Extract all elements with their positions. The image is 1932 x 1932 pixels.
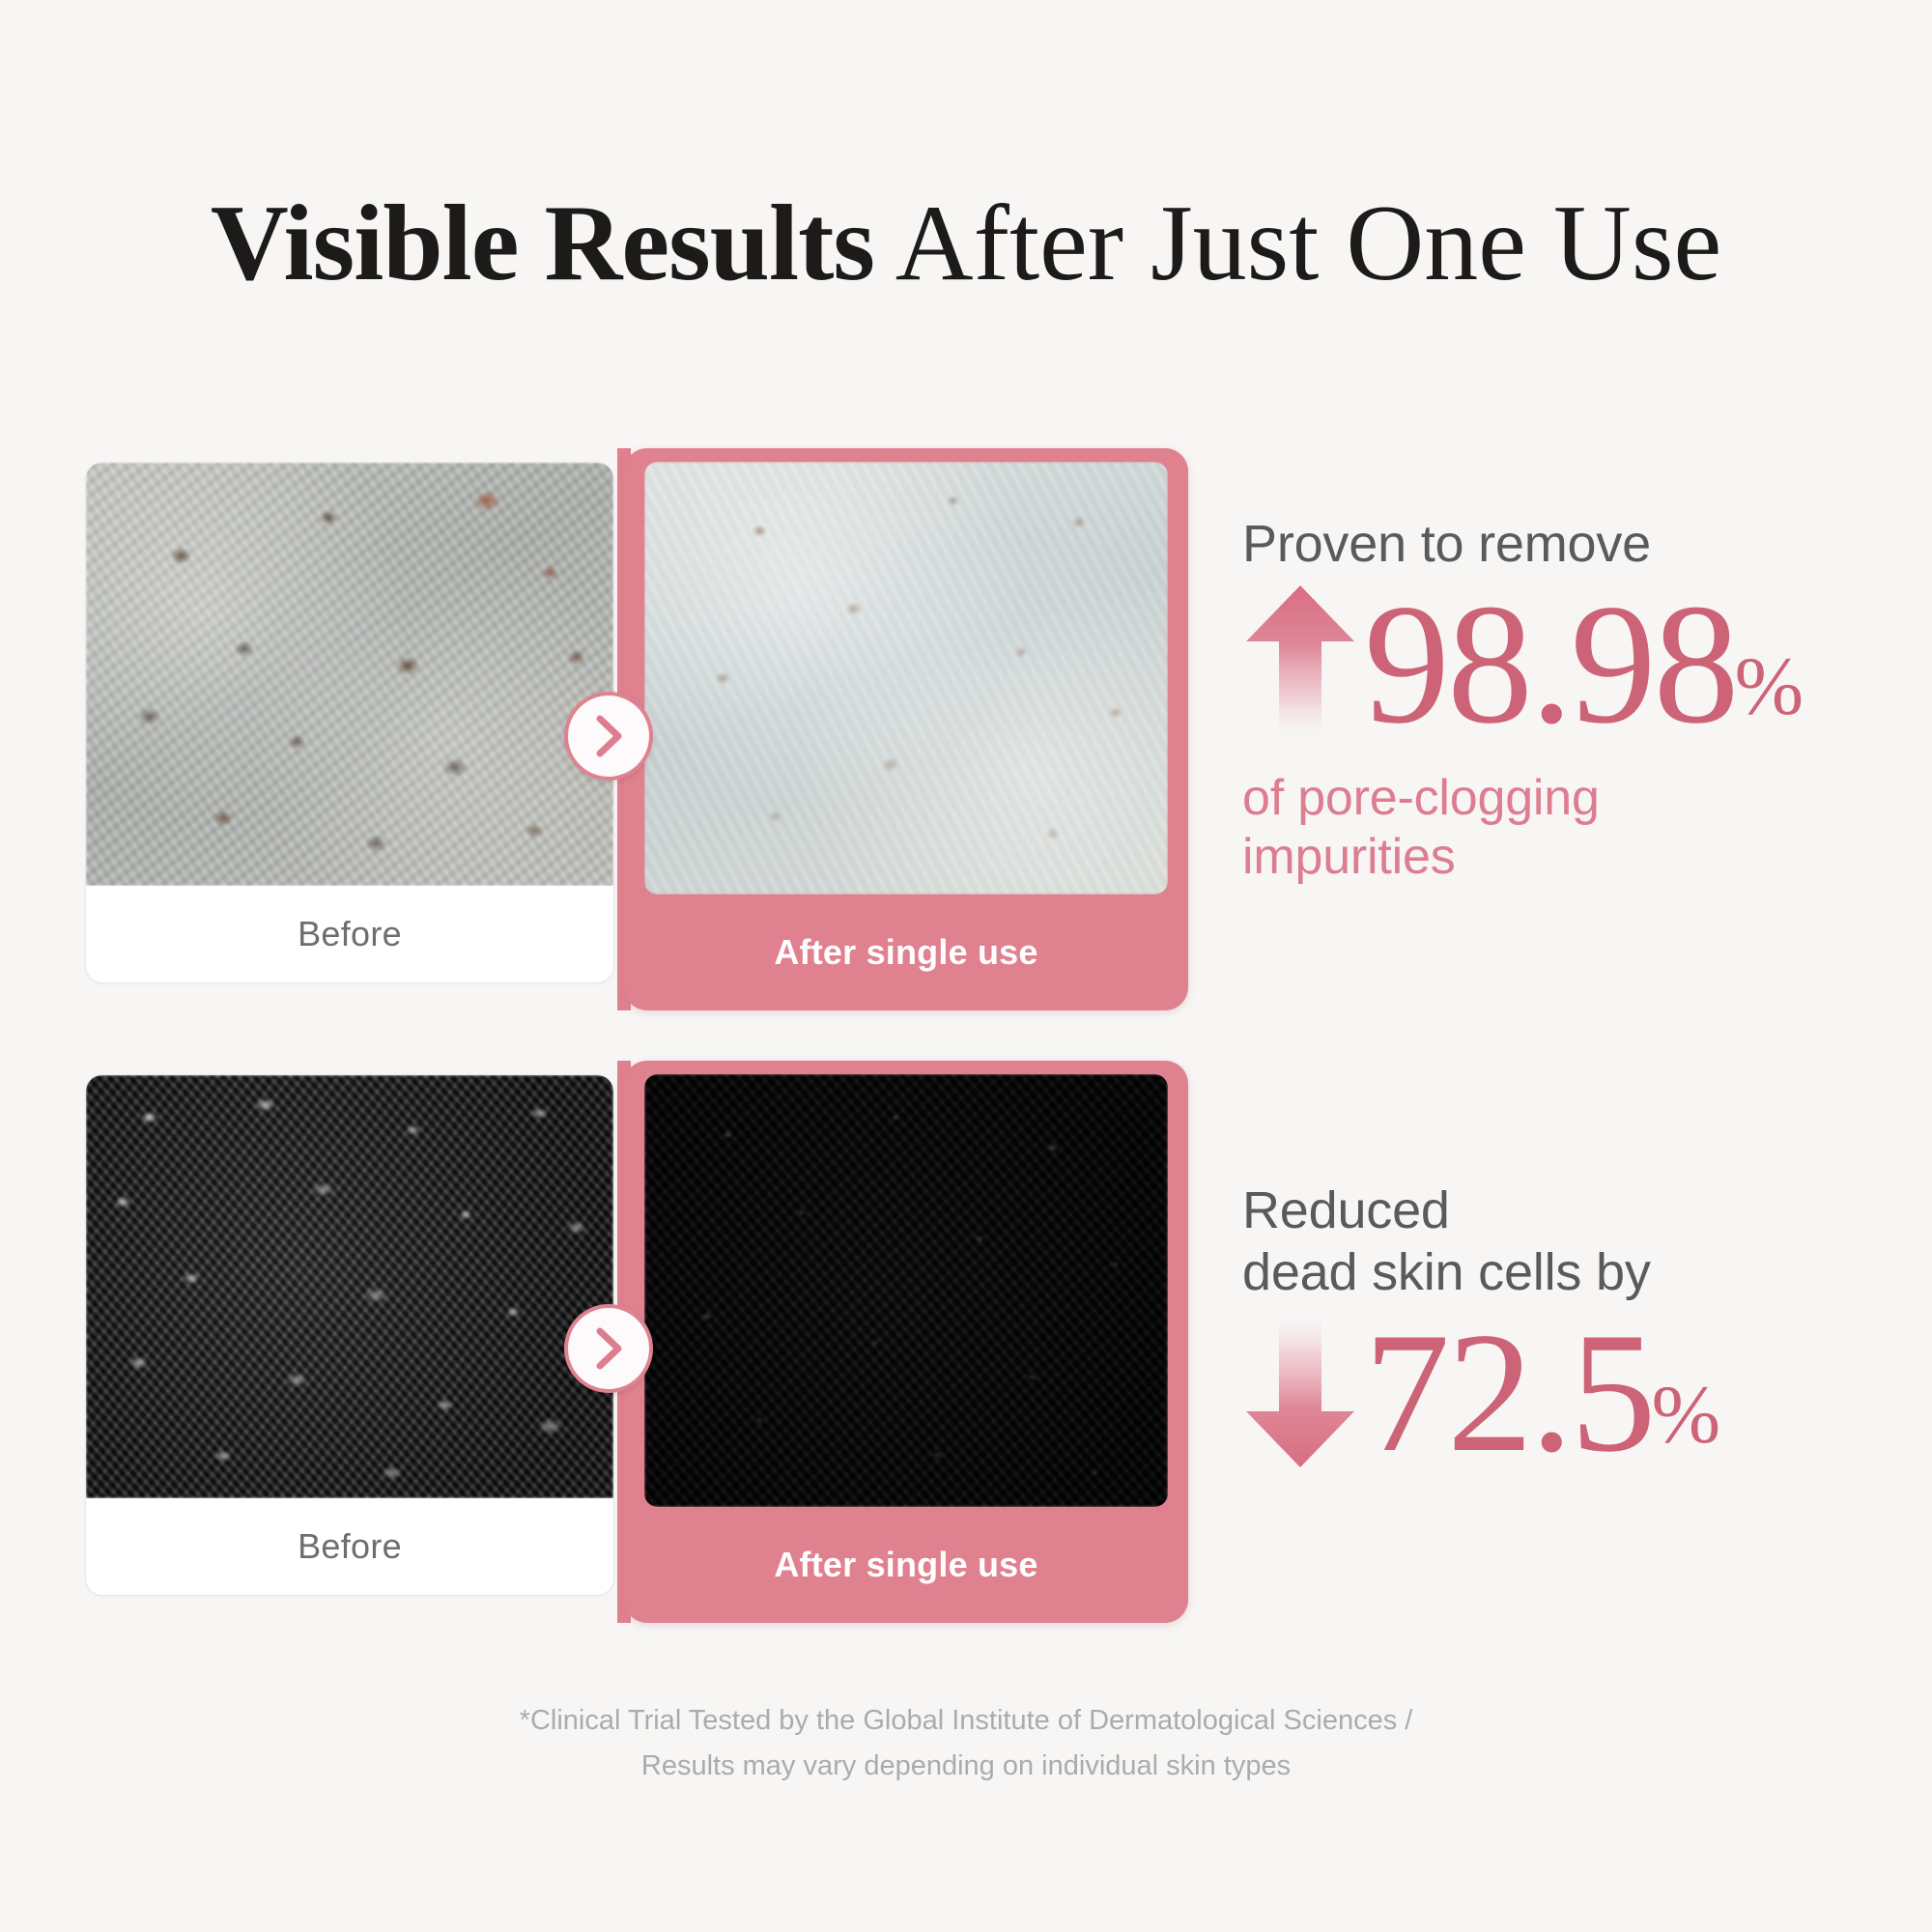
stat-number: 72.5 xyxy=(1364,1296,1654,1488)
stat-block-impurities: Proven to remove 98.98% xyxy=(1242,514,1804,887)
comparison-row-2: Before After single use xyxy=(85,1074,1188,1623)
before-photo-clogged-pores xyxy=(86,463,613,886)
skin-texture-dead-cells-reduced xyxy=(644,1074,1168,1507)
stat-value-wrap: 98.98% xyxy=(1364,585,1804,744)
after-label: After single use xyxy=(624,895,1188,1010)
stat-percent-sign: % xyxy=(1735,639,1804,732)
chevron-right-icon xyxy=(564,692,653,781)
chevron-right-icon xyxy=(564,1304,653,1393)
skin-texture-clean xyxy=(644,462,1168,895)
stat-value-wrap: 72.5% xyxy=(1364,1314,1720,1472)
stat-block-dead-skin: Reduced dead skin cells by 72 xyxy=(1242,1180,1720,1471)
arrow-up-icon xyxy=(1242,582,1364,744)
before-photo-dead-skin xyxy=(86,1075,613,1498)
footnote-disclaimer: *Clinical Trial Tested by the Global Ins… xyxy=(0,1698,1932,1789)
page-title-strong: Visible Results xyxy=(211,184,874,303)
stat-lead: Reduced dead skin cells by xyxy=(1242,1180,1720,1303)
page-title-light: After Just One Use xyxy=(874,184,1721,303)
comparison-row-1: Before After single use xyxy=(85,462,1188,1010)
before-card: Before xyxy=(85,462,614,983)
before-after-pair: Before After single use xyxy=(85,462,1188,1010)
before-label: Before xyxy=(86,1498,613,1595)
after-card: After single use xyxy=(624,1061,1188,1623)
skin-texture-clogged xyxy=(86,463,613,886)
stat-percent-sign: % xyxy=(1652,1368,1721,1461)
page-title: Visible Results After Just One Use xyxy=(0,189,1932,298)
before-after-pair: Before After single use xyxy=(85,1074,1188,1623)
stat-figure: 98.98% xyxy=(1242,582,1804,744)
stat-number: 98.98 xyxy=(1364,568,1737,759)
stat-lead: Proven to remove xyxy=(1242,514,1804,576)
arrow-down-icon xyxy=(1242,1309,1364,1471)
after-photo-reduced-dead-skin xyxy=(644,1074,1168,1507)
after-label: After single use xyxy=(624,1507,1188,1623)
infographic-root: Visible Results After Just One Use Befor… xyxy=(0,0,1932,1932)
skin-texture-dead-cells xyxy=(86,1075,613,1498)
after-card: After single use xyxy=(624,448,1188,1010)
before-card: Before xyxy=(85,1074,614,1596)
stat-figure: 72.5% xyxy=(1242,1309,1720,1471)
before-label: Before xyxy=(86,886,613,982)
after-photo-clean-pores xyxy=(644,462,1168,895)
stat-tail: of pore-clogging impurities xyxy=(1242,769,1804,888)
